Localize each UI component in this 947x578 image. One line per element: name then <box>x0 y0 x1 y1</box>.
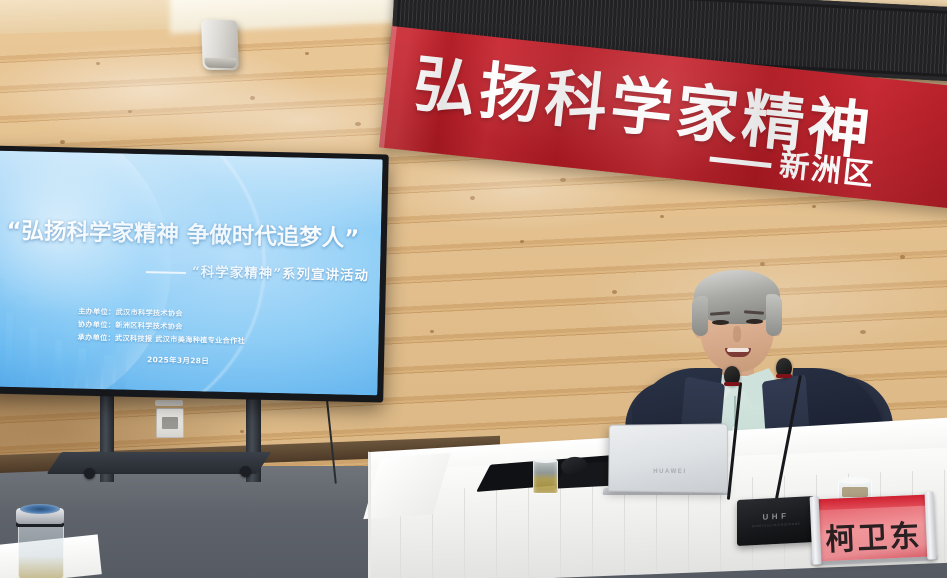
speaker-nameplate: 柯卫东 <box>814 494 933 561</box>
caster-wheel <box>240 466 251 477</box>
tea-glass <box>533 460 558 494</box>
slide-organizers: 主办单位：武汉市科学技术协会 协办单位：新洲区科学技术协会 承办单位：武汉科技报… <box>77 305 378 351</box>
microphone-receiver-base: UHF WIRELESS MICROPHONE <box>737 496 815 546</box>
display-screen: “弘扬科学家精神 争做时代追梦人” “科学家精神”系列宣讲活动 主办单位：武汉市… <box>0 151 383 396</box>
photo-scene: 弘扬科学家精神 新洲区 <box>0 0 947 578</box>
eye-left <box>712 320 729 325</box>
bottle-glass-body <box>18 520 64 578</box>
water-bottle <box>16 502 64 578</box>
presentation-display[interactable]: “弘扬科学家精神 争做时代追梦人” “科学家精神”系列宣讲活动 主办单位：武汉市… <box>0 145 389 402</box>
caster-wheel <box>84 468 95 479</box>
slide-subtitle-dash <box>146 271 186 274</box>
hair-side-right <box>766 294 782 336</box>
laptop[interactable]: HUAWEI <box>607 424 727 496</box>
microphone-ring <box>776 374 792 378</box>
banner-dash <box>709 157 771 169</box>
nameplate-text: 柯卫东 <box>814 510 932 559</box>
laptop-lid: HUAWEI <box>608 423 728 492</box>
microphone-ring <box>724 382 740 386</box>
hair-side-left <box>692 296 708 336</box>
wall-outlet-box <box>156 408 184 438</box>
wall-outlet-cover <box>155 400 183 406</box>
table-left-edge <box>368 452 371 578</box>
banner-sub-label: 新洲区 <box>778 148 877 193</box>
laptop-brand-logo: HUAWEI <box>640 469 700 475</box>
wall-mounted-speaker <box>201 20 239 71</box>
nose <box>733 326 741 342</box>
teeth <box>727 348 749 352</box>
tv-stand-base <box>47 452 272 474</box>
bottle-cap-top <box>20 504 60 514</box>
eye-right <box>746 319 763 324</box>
